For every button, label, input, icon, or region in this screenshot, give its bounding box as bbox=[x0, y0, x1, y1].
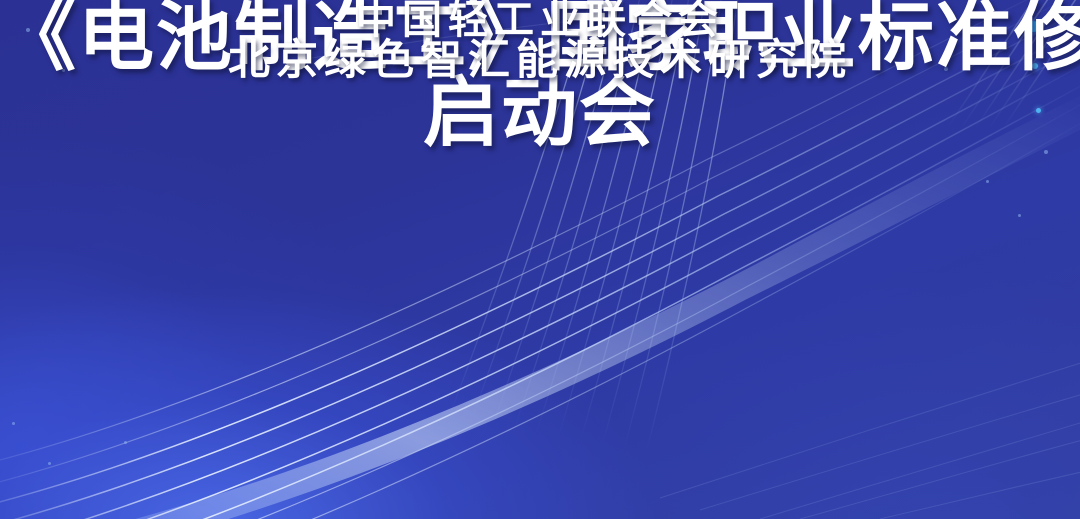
accent-dot bbox=[12, 422, 15, 425]
poster-title-line-2: 启动会 bbox=[0, 76, 1080, 152]
poster-banner: 《电池制造工》国家职业标准修订 启动会 中国轻工业联合会 北京绿色智汇能源技术研… bbox=[0, 0, 1080, 519]
accent-dot bbox=[1018, 214, 1021, 217]
accent-dot bbox=[124, 441, 127, 444]
poster-subtitle-organization-2: 北京绿色智汇能源技术研究院 bbox=[0, 40, 1080, 82]
accent-dot bbox=[48, 462, 51, 465]
accent-dot bbox=[986, 180, 989, 183]
poster-subtitle-organization-1: 中国轻工业联合会 bbox=[0, 0, 1080, 40]
subtitle-group: 中国轻工业联合会 北京绿色智汇能源技术研究院 bbox=[0, 0, 1080, 82]
